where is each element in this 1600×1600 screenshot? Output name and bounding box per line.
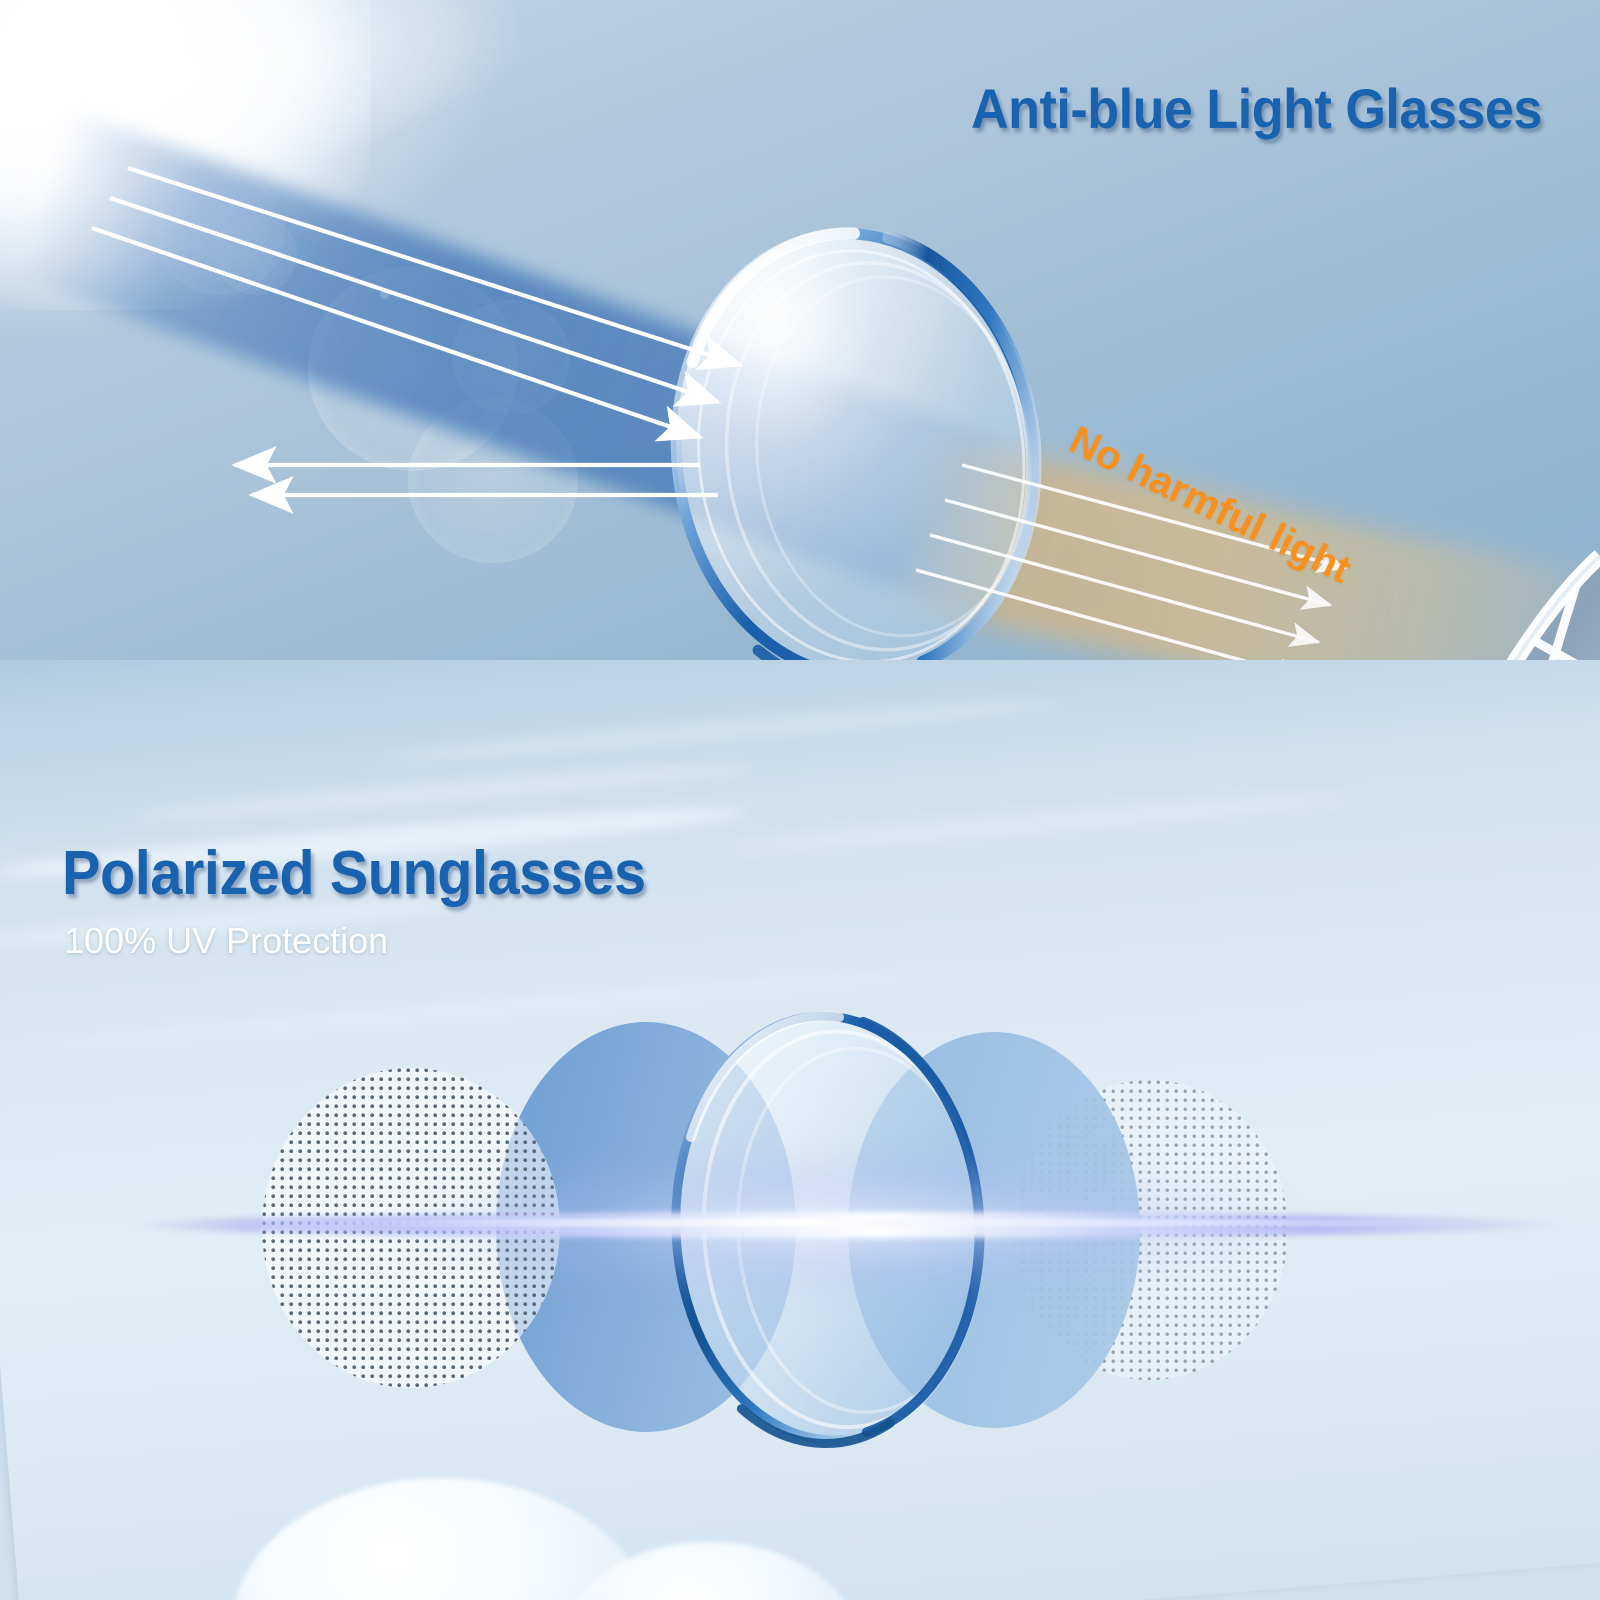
- outgoing-ray-group: [916, 465, 1345, 678]
- sun-glare-icon: [0, 0, 370, 310]
- lens-flare-icon: [155, 170, 285, 295]
- sun-streak-icon: [0, 0, 533, 252]
- panel-anti-blue-light: Anti-blue Light Glasses No harmful light: [0, 0, 1600, 745]
- lens-flare-icon: [215, 215, 297, 295]
- incoming-ray-group: [92, 168, 740, 437]
- panel-polarized-sunglasses: [0, 660, 1600, 1600]
- callout-no-harmful-light: No harmful light: [1062, 418, 1357, 593]
- lens-flare-icon: [452, 300, 570, 415]
- panel-title-anti-blue-light: Anti-blue Light Glasses: [971, 76, 1542, 141]
- lens-flare-icon: [408, 398, 578, 563]
- reflected-ray-group: [235, 465, 718, 495]
- infographic-canvas: Anti-blue Light Glasses No harmful light…: [0, 0, 1600, 1600]
- lens-flare-icon: [308, 266, 518, 471]
- panel-photo-tilted: [0, 660, 1600, 1600]
- lens-flare-dot-icon: [380, 290, 389, 299]
- blue-light-beam: [11, 110, 1069, 629]
